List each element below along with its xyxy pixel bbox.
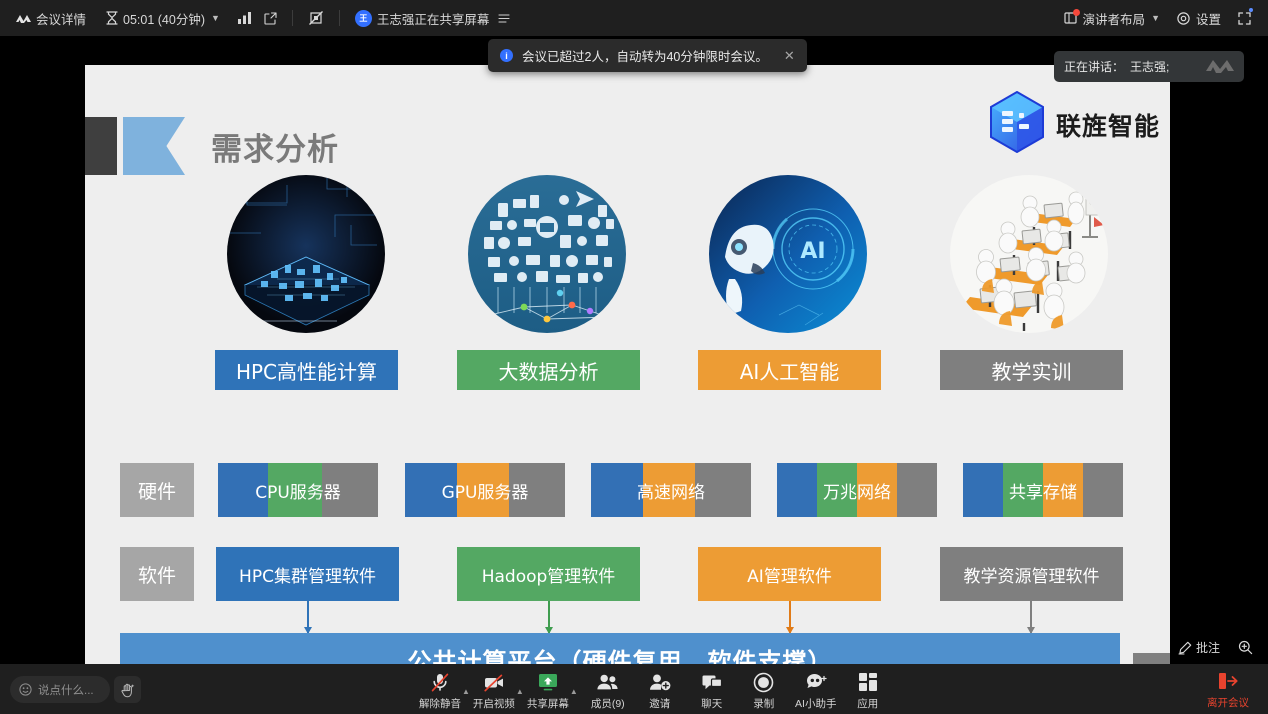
- page-title: 需求分析: [211, 124, 339, 169]
- network-status-button[interactable]: [232, 9, 258, 27]
- ai-assistant-label: AI小助手: [795, 696, 836, 711]
- participants-label: 成员(9): [591, 696, 625, 711]
- segment-gray: [1083, 463, 1123, 517]
- share-control-group: 共享屏幕 ▲: [522, 668, 576, 711]
- software-label-0: HPC集群管理软件: [239, 562, 376, 587]
- hardware-box-2: 高速网络: [591, 463, 751, 517]
- bigdata-icons-image: [468, 175, 626, 333]
- chat-button[interactable]: 聊天: [686, 668, 738, 711]
- camera-off-icon: [483, 671, 505, 693]
- hpc-datacenter-image: [227, 175, 385, 333]
- software-box-0: HPC集群管理软件: [216, 547, 399, 601]
- leave-meeting-label: 离开会议: [1207, 695, 1249, 710]
- raise-hand-icon: [120, 682, 136, 698]
- record-icon: [753, 671, 774, 693]
- segment-blue: [591, 463, 643, 517]
- participants-icon: [596, 671, 619, 693]
- chevron-down-icon: ▼: [211, 13, 220, 23]
- category-label-0: HPC高性能计算: [215, 350, 398, 390]
- start-video-button[interactable]: 开启视频: [468, 668, 520, 711]
- leave-meeting-button[interactable]: 离开会议: [1200, 670, 1256, 710]
- emoji-icon: [19, 683, 32, 696]
- layout-icon: [1064, 11, 1078, 25]
- segment-blue: [963, 463, 1003, 517]
- segment-green: [268, 463, 322, 517]
- shared-screen-stage: 需求分析: [0, 36, 1268, 664]
- hardware-box-1: GPU服务器: [405, 463, 565, 517]
- apps-label: 应用: [857, 696, 878, 711]
- hardware-row-label: 硬件: [120, 463, 194, 517]
- invite-label: 邀请: [649, 696, 670, 711]
- speaker-layout-label: 演讲者布局: [1083, 9, 1146, 28]
- segment-orange: [1043, 463, 1083, 517]
- hardware-box-4: 共享存储: [963, 463, 1123, 517]
- category-label-1: 大数据分析: [457, 350, 640, 390]
- no-record-icon: [308, 10, 324, 26]
- list-icon[interactable]: [498, 13, 510, 24]
- title-flag-decor: [123, 117, 185, 175]
- chat-icon: [701, 671, 723, 693]
- hourglass-icon: [106, 11, 118, 25]
- chevron-down-icon-2: ▼: [1151, 13, 1160, 23]
- leave-icon: [1217, 670, 1239, 692]
- info-icon: i: [500, 49, 513, 62]
- unmute-label: 解除静音: [419, 696, 461, 711]
- software-label-1: Hadoop管理软件: [482, 562, 616, 587]
- divider: [292, 10, 293, 26]
- video-control-group: 开启视频 ▲: [468, 668, 522, 711]
- category-label-3: 教学实训: [940, 350, 1123, 390]
- popout-button[interactable]: [258, 9, 283, 28]
- software-box-1: Hadoop管理软件: [457, 547, 640, 601]
- meeting-timer[interactable]: 05:01 (40分钟) ▼: [100, 6, 226, 31]
- svg-text:AI: AI: [800, 239, 825, 264]
- arrow-1: [548, 601, 550, 633]
- meeting-details-button[interactable]: 会议详情: [10, 6, 92, 31]
- segment-green: [817, 463, 857, 517]
- unmute-button[interactable]: 解除静音: [414, 668, 466, 711]
- segment-orange: [457, 463, 509, 517]
- invite-button[interactable]: 邀请: [634, 668, 686, 711]
- pen-icon: [1178, 641, 1192, 655]
- segment-gray: [695, 463, 751, 517]
- meeting-window: 会议详情 05:01 (40分钟) ▼ 王: [0, 0, 1268, 714]
- zoom-in-button[interactable]: [1231, 636, 1260, 659]
- category-text-0: HPC高性能计算: [236, 356, 377, 385]
- presentation-slide[interactable]: 需求分析: [85, 65, 1170, 701]
- share-screen-label: 共享屏幕: [527, 696, 569, 711]
- apps-icon: [858, 671, 878, 693]
- arrow-2: [789, 601, 791, 633]
- annotation-toolbar: 批注: [1171, 634, 1260, 661]
- software-label-3: 教学资源管理软件: [964, 562, 1100, 587]
- avatar: 王: [355, 10, 372, 27]
- segment-orange: [643, 463, 695, 517]
- divider-2: [339, 10, 340, 26]
- annotate-button[interactable]: 批注: [1171, 635, 1227, 660]
- brand-logo: 联旌智能: [988, 91, 1160, 158]
- screen-share-icon: [537, 671, 559, 693]
- external-link-icon: [264, 12, 277, 25]
- say-something-placeholder: 说点什么...: [38, 682, 94, 698]
- tencent-meeting-logo-icon-2: [1206, 57, 1234, 77]
- sharing-status[interactable]: 王 王志强正在共享屏幕: [349, 6, 517, 31]
- segment-blue: [777, 463, 817, 517]
- no-record-button[interactable]: [302, 7, 330, 29]
- classroom-training-image: [950, 175, 1108, 333]
- speaking-indicator: 正在讲话： 王志强;: [1054, 51, 1244, 82]
- meeting-limit-toast: i 会议已超过2人，自动转为40分钟限时会议。 ✕: [488, 39, 807, 72]
- ai-assistant-icon: [804, 671, 827, 693]
- share-screen-button[interactable]: 共享屏幕: [522, 668, 574, 711]
- segment-orange: [857, 463, 897, 517]
- speaker-layout-button[interactable]: 演讲者布局 ▼: [1058, 6, 1166, 31]
- category-text-2: AI人工智能: [740, 356, 840, 385]
- annotate-label: 批注: [1196, 639, 1220, 656]
- cube-logo-icon: [988, 91, 1046, 158]
- fullscreen-icon: [1237, 11, 1252, 26]
- hardware-row-label-text: 硬件: [138, 477, 176, 504]
- software-label-2: AI管理软件: [747, 562, 832, 587]
- title-block-decor: [85, 117, 117, 175]
- raise-hand-button[interactable]: [114, 676, 141, 703]
- speaking-label: 正在讲话：: [1064, 58, 1124, 75]
- meeting-details-label: 会议详情: [36, 9, 86, 28]
- software-row-label-text: 软件: [138, 561, 176, 588]
- signal-bars-icon: [238, 12, 252, 24]
- hardware-box-0: CPU服务器: [218, 463, 378, 517]
- category-label-2: AI人工智能: [698, 350, 881, 390]
- brand-name: 联旌智能: [1056, 107, 1160, 143]
- start-video-label: 开启视频: [473, 696, 515, 711]
- category-text-3: 教学实训: [992, 356, 1072, 385]
- notification-dot: [1073, 9, 1080, 16]
- mic-control-group: 解除静音 ▲: [414, 668, 468, 711]
- segment-gray: [509, 463, 565, 517]
- category-labels-row: HPC高性能计算 大数据分析 AI人工智能 教学实训: [85, 350, 1170, 390]
- update-dot: [1249, 8, 1253, 12]
- mic-muted-icon: [430, 671, 450, 693]
- chevron-up-icon-share[interactable]: ▲: [570, 683, 578, 696]
- say-something-input[interactable]: 说点什么...: [10, 676, 110, 703]
- ai-assistant-button[interactable]: AI小助手: [790, 668, 842, 711]
- slide-title-row: 需求分析: [85, 117, 339, 175]
- sharing-user-label: 王志强正在共享屏幕: [377, 9, 490, 28]
- image-circles-row: AI: [85, 175, 1170, 345]
- topbar-right-group: 演讲者布局 ▼ 设置: [1058, 6, 1258, 31]
- software-row-label: 软件: [120, 547, 194, 601]
- toast-message: 会议已超过2人，自动转为40分钟限时会议。: [522, 46, 768, 65]
- arrow-0: [307, 601, 309, 633]
- zoom-in-icon: [1238, 640, 1253, 655]
- software-box-2: AI管理软件: [698, 547, 881, 601]
- record-label: 录制: [753, 696, 774, 711]
- timer-label: 05:01 (40分钟): [123, 9, 205, 28]
- record-button[interactable]: 录制: [738, 668, 790, 711]
- participants-button[interactable]: 成员(9): [582, 668, 634, 711]
- chat-label: 聊天: [701, 696, 722, 711]
- close-icon[interactable]: ✕: [784, 48, 795, 64]
- settings-button[interactable]: 设置: [1170, 6, 1227, 31]
- meeting-controls: 解除静音 ▲ 开启视频 ▲ 共享屏幕 ▲: [414, 668, 894, 711]
- invite-icon: [649, 671, 671, 693]
- ai-robot-image: AI: [709, 175, 867, 333]
- fullscreen-button[interactable]: [1231, 8, 1258, 29]
- segment-blue: [405, 463, 457, 517]
- arrow-3: [1030, 601, 1032, 633]
- gear-icon: [1176, 11, 1191, 26]
- segment-blue: [218, 463, 268, 517]
- speaking-name: 王志强;: [1130, 58, 1169, 75]
- segment-green: [1003, 463, 1043, 517]
- settings-label: 设置: [1196, 9, 1221, 28]
- hardware-box-3: 万兆网络: [777, 463, 937, 517]
- segment-gray: [322, 463, 378, 517]
- top-toolbar: 会议详情 05:01 (40分钟) ▼ 王: [0, 0, 1268, 36]
- apps-button[interactable]: 应用: [842, 668, 894, 711]
- software-box-3: 教学资源管理软件: [940, 547, 1123, 601]
- tencent-meeting-logo-icon: [16, 13, 31, 24]
- segment-gray: [897, 463, 937, 517]
- category-text-1: 大数据分析: [499, 356, 599, 385]
